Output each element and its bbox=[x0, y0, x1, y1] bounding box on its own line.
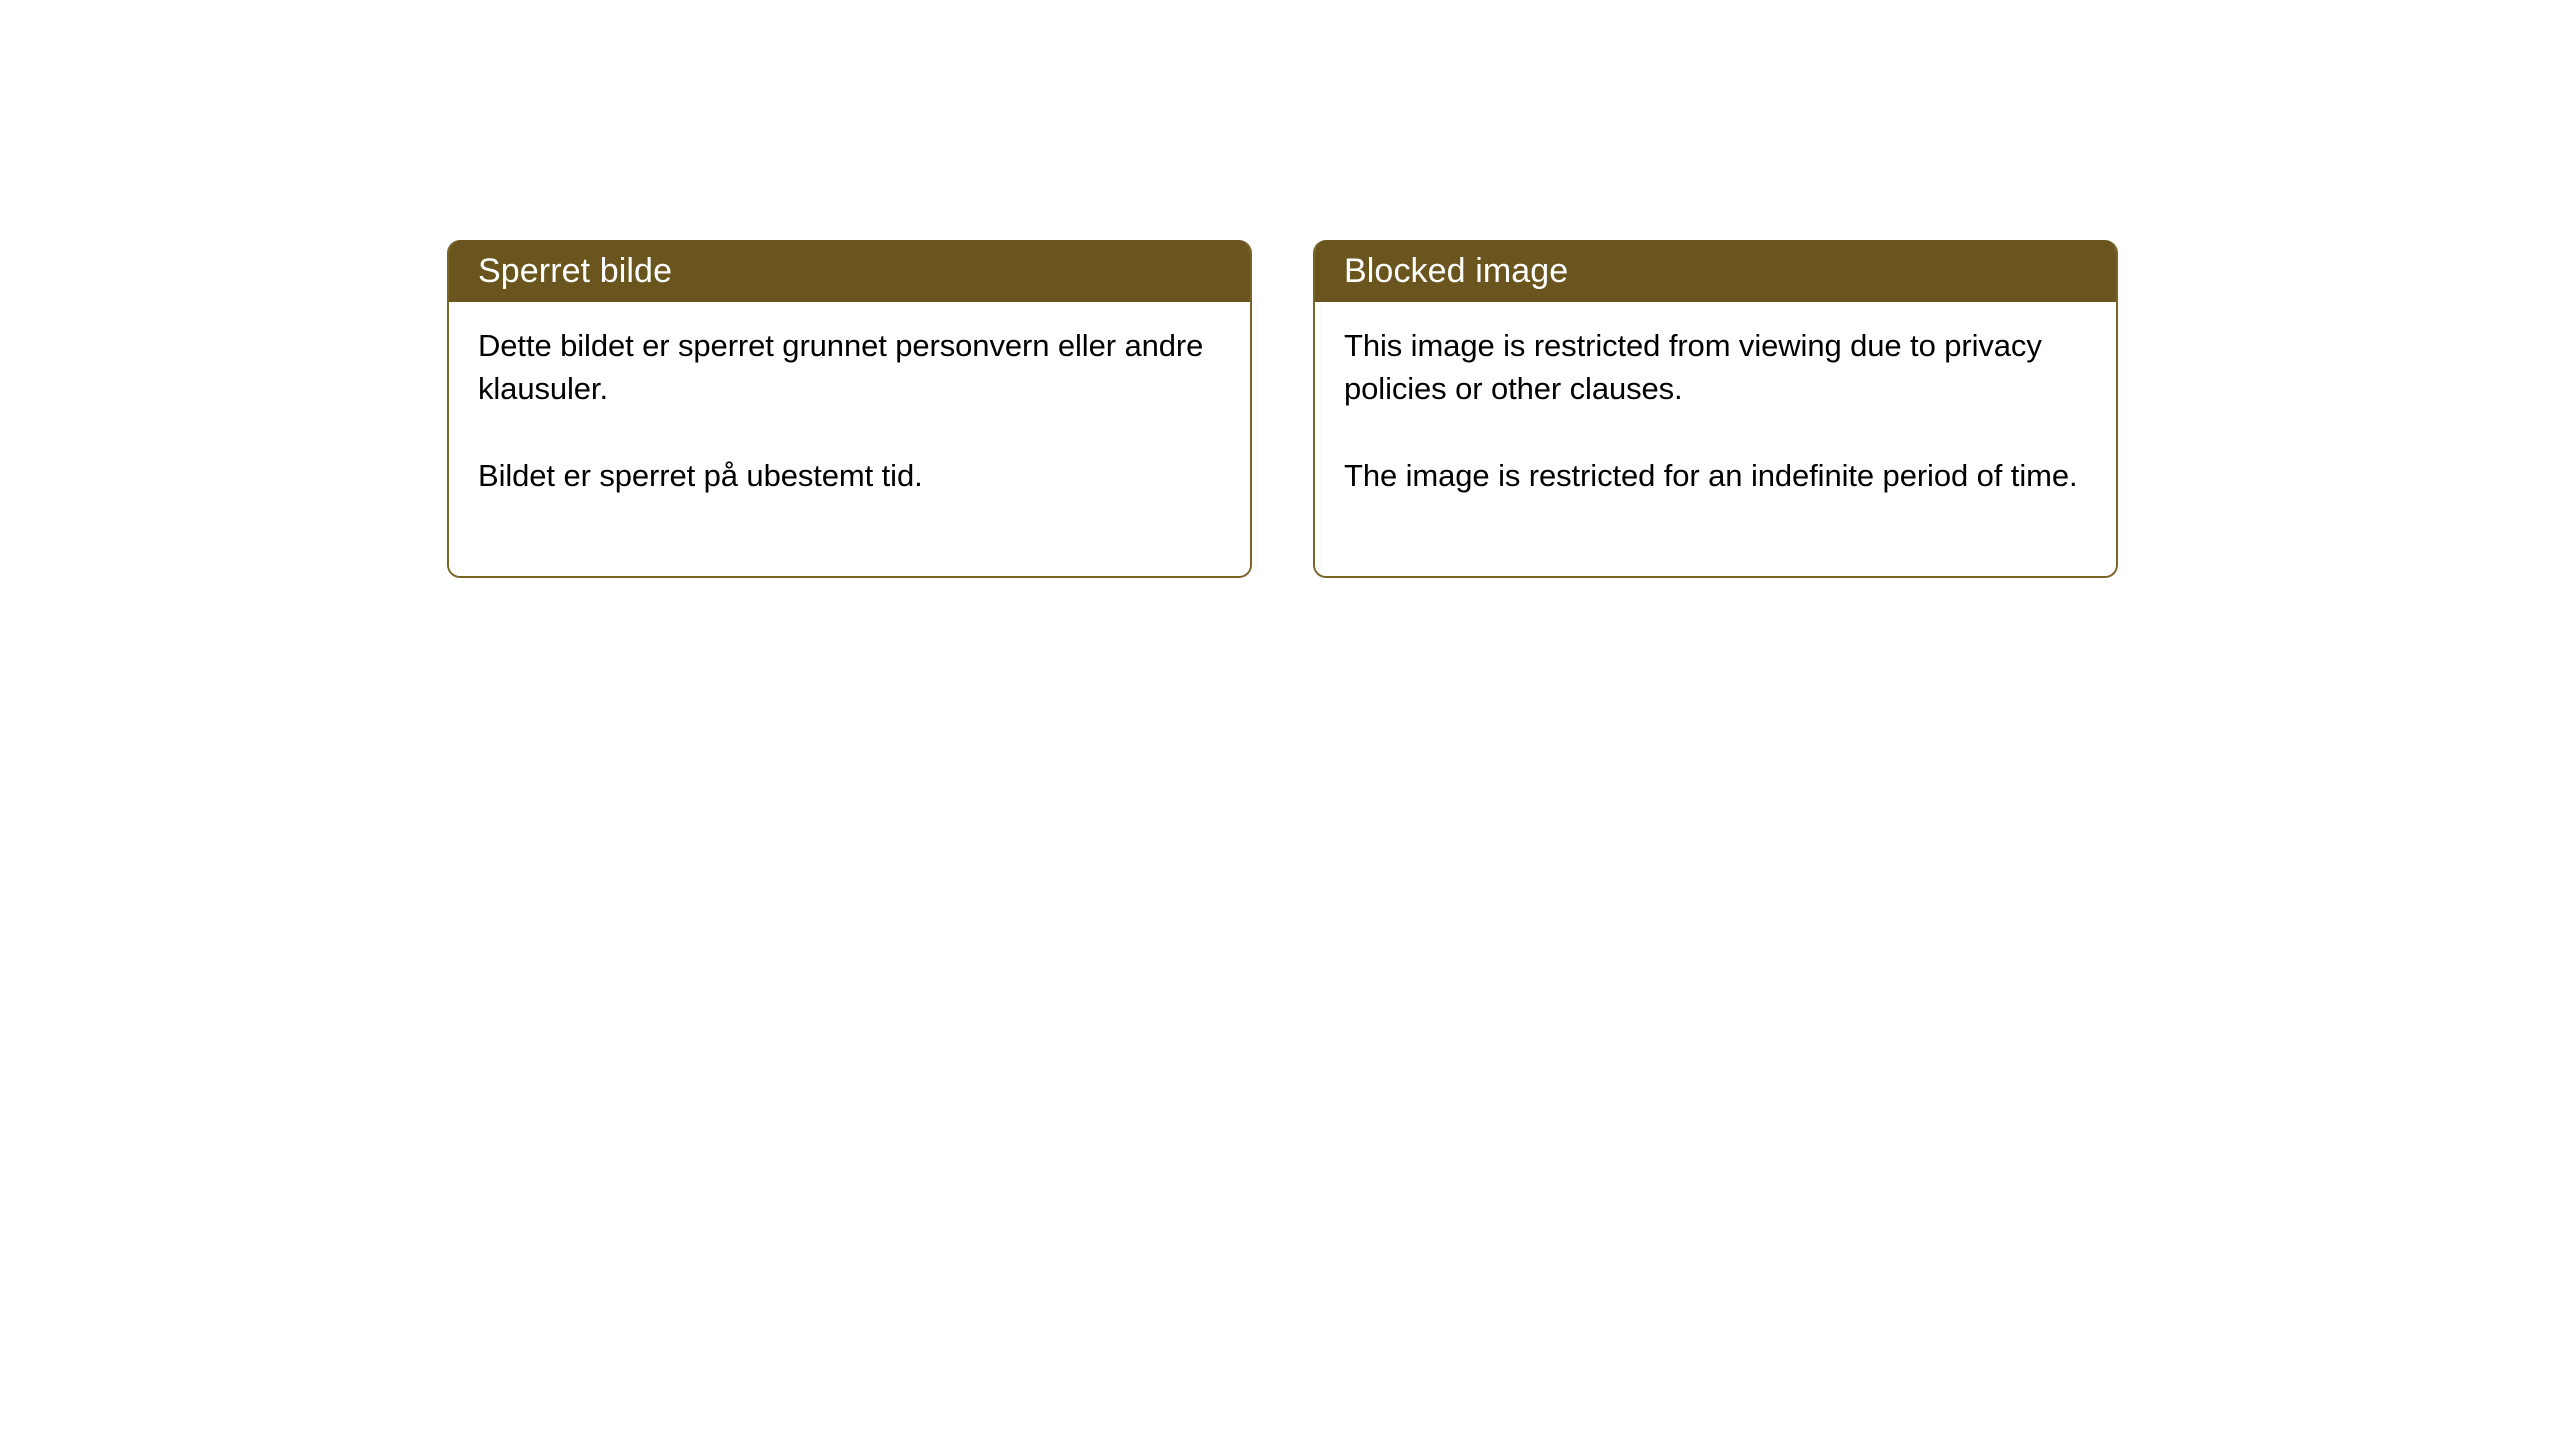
panel-paragraph-reason-english: This image is restricted from viewing du… bbox=[1344, 324, 2088, 410]
panel-header-english: Blocked image bbox=[1313, 240, 2118, 302]
panel-title-norwegian: Sperret bilde bbox=[478, 254, 672, 288]
panel-header-norwegian: Sperret bilde bbox=[447, 240, 1252, 302]
panel-body-english: This image is restricted from viewing du… bbox=[1315, 302, 2116, 576]
panel-title-english: Blocked image bbox=[1344, 254, 1568, 288]
panel-body-norwegian: Dette bildet er sperret grunnet personve… bbox=[449, 302, 1250, 576]
panel-paragraph-reason-norwegian: Dette bildet er sperret grunnet personve… bbox=[478, 324, 1222, 410]
blocked-image-panel-norwegian: Sperret bilde Dette bildet er sperret gr… bbox=[447, 240, 1252, 578]
blocked-image-panel-english: Blocked image This image is restricted f… bbox=[1313, 240, 2118, 578]
page-canvas: Sperret bilde Dette bildet er sperret gr… bbox=[0, 0, 2560, 1440]
blocked-image-notice-group: Sperret bilde Dette bildet er sperret gr… bbox=[447, 240, 2118, 578]
panel-paragraph-duration-norwegian: Bildet er sperret på ubestemt tid. bbox=[478, 454, 1222, 497]
panel-paragraph-duration-english: The image is restricted for an indefinit… bbox=[1344, 454, 2088, 497]
